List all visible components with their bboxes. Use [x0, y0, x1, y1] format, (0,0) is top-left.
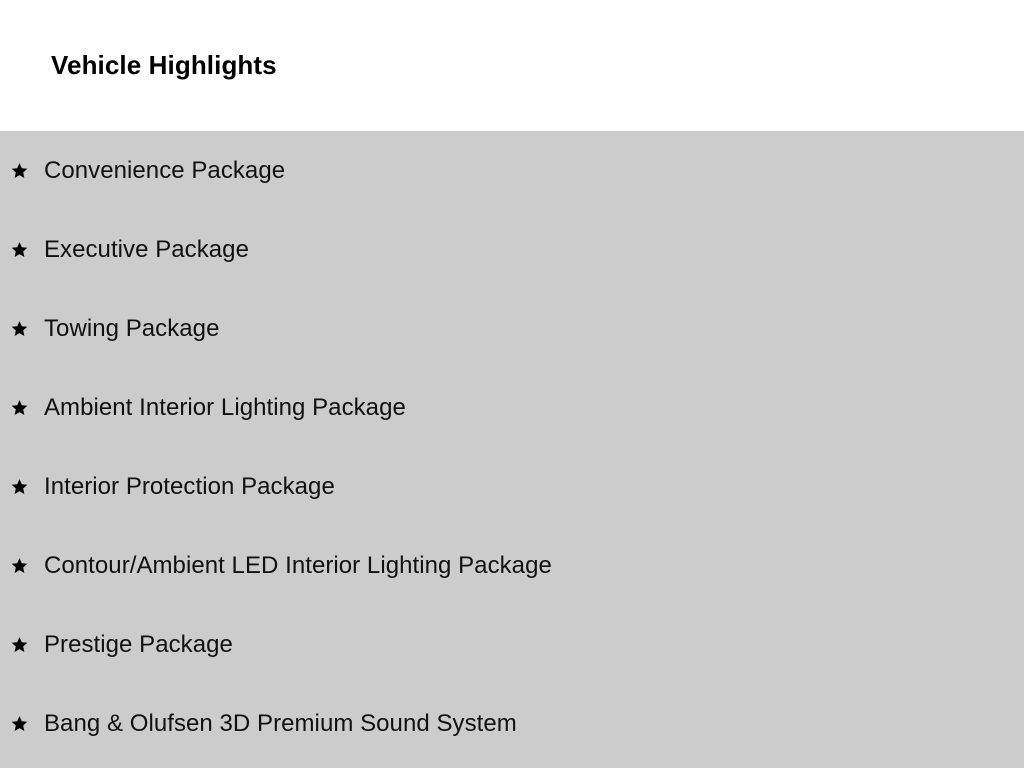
list-item-label: Interior Protection Package: [44, 473, 335, 501]
list-item[interactable]: Interior Protection Package: [0, 447, 1024, 526]
list-item[interactable]: Bang & Olufsen 3D Premium Sound System: [0, 684, 1024, 763]
list-item-label: Convenience Package: [44, 157, 285, 185]
list-item[interactable]: Prestige Package: [0, 605, 1024, 684]
star-icon: [10, 713, 28, 735]
star-icon: [10, 397, 28, 419]
list-item-label: Contour/Ambient LED Interior Lighting Pa…: [44, 552, 552, 580]
star-icon: [10, 318, 28, 340]
list-item[interactable]: Ambient Interior Lighting Package: [0, 368, 1024, 447]
list-item[interactable]: Convenience Package: [0, 131, 1024, 210]
vehicle-highlights-page: Vehicle Highlights Convenience Package E…: [0, 0, 1024, 768]
star-icon: [10, 160, 28, 182]
star-icon: [10, 634, 28, 656]
highlights-panel: Convenience Package Executive Package To…: [0, 131, 1024, 768]
star-icon: [10, 476, 28, 498]
page-header: Vehicle Highlights: [0, 0, 1024, 131]
list-item[interactable]: Towing Package: [0, 289, 1024, 368]
list-item-label: Ambient Interior Lighting Package: [44, 394, 406, 422]
list-item[interactable]: Contour/Ambient LED Interior Lighting Pa…: [0, 526, 1024, 605]
page-title: Vehicle Highlights: [51, 50, 277, 80]
star-icon: [10, 555, 28, 577]
list-item-label: Prestige Package: [44, 631, 233, 659]
list-item-label: Executive Package: [44, 236, 249, 264]
vehicle-highlights-list: Convenience Package Executive Package To…: [0, 131, 1024, 763]
list-item-label: Bang & Olufsen 3D Premium Sound System: [44, 710, 517, 738]
list-item-label: Towing Package: [44, 315, 219, 343]
star-icon: [10, 239, 28, 261]
list-item[interactable]: Executive Package: [0, 210, 1024, 289]
